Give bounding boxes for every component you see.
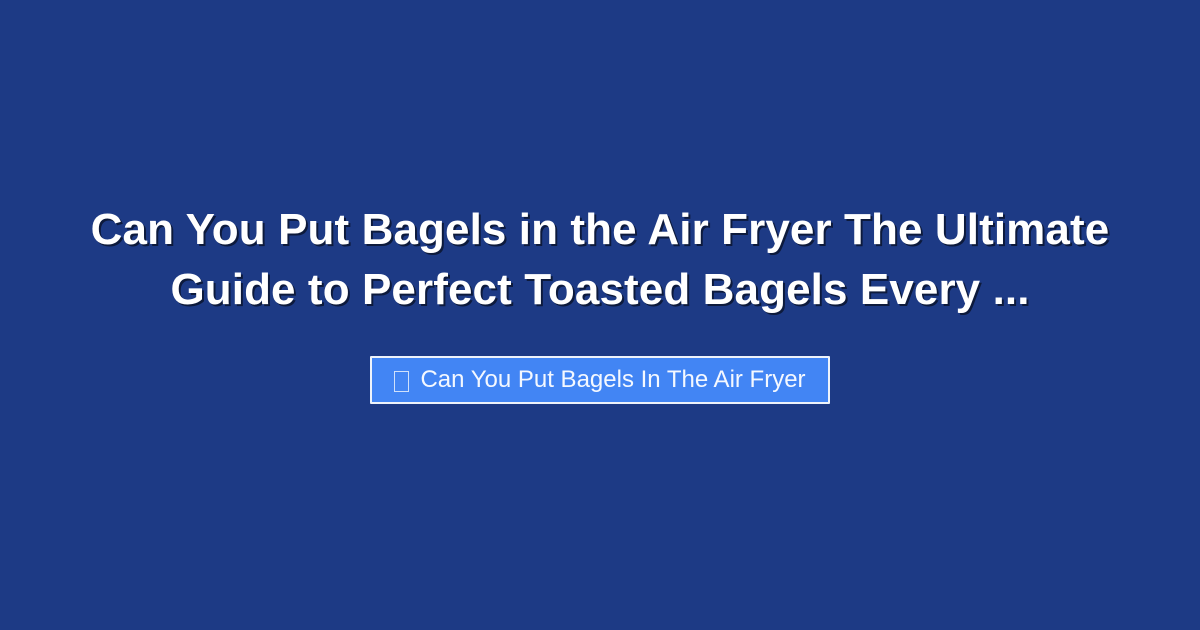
share-card: Can You Put Bagels in the Air Fryer The …	[0, 0, 1200, 630]
missing-glyph-box-icon	[394, 371, 409, 392]
topic-badge-button[interactable]: Can You Put Bagels In The Air Fryer	[370, 356, 829, 404]
page-title: Can You Put Bagels in the Air Fryer The …	[60, 200, 1140, 320]
badge-row: Can You Put Bagels In The Air Fryer	[60, 356, 1140, 404]
topic-badge-label: Can You Put Bagels In The Air Fryer	[420, 368, 805, 392]
card-content: Can You Put Bagels in the Air Fryer The …	[60, 200, 1140, 404]
